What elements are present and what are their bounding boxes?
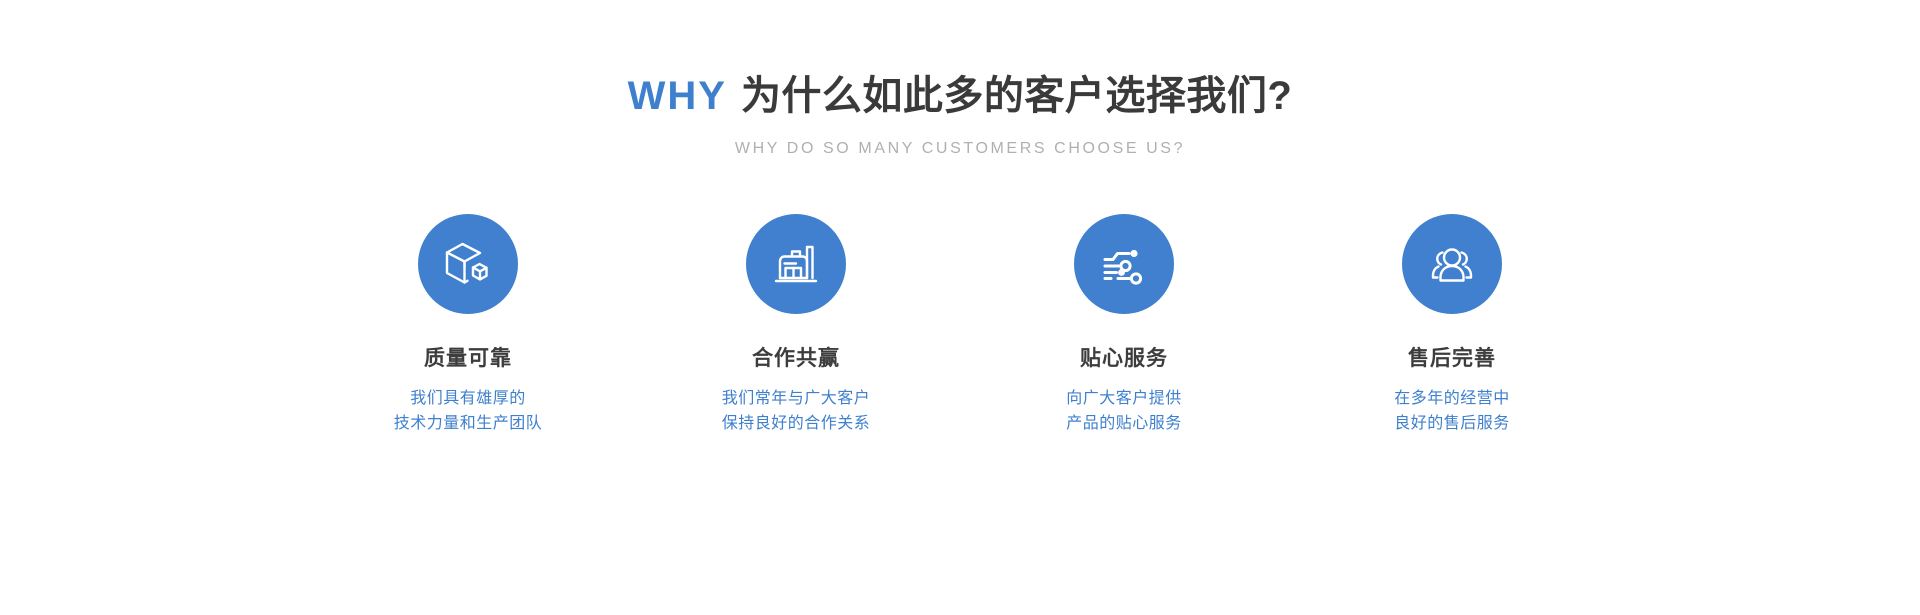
feature-card-service[interactable]: 贴心服务 向广大客户提供 产品的贴心服务 xyxy=(1024,214,1224,436)
feature-card-list: 质量可靠 我们具有雄厚的 技术力量和生产团队 xyxy=(368,214,1552,436)
icon-circle-service xyxy=(1074,214,1174,314)
package-box-icon xyxy=(440,236,496,292)
title-main-text: 为什么如此多的客户选择我们? xyxy=(741,74,1292,118)
icon-circle-aftersales xyxy=(1402,214,1502,314)
feature-title: 售后完善 xyxy=(1408,346,1496,371)
feature-description: 我们具有雄厚的 技术力量和生产团队 xyxy=(394,386,543,436)
feature-description-line1: 在多年的经营中 xyxy=(1394,386,1510,411)
feature-title: 合作共赢 xyxy=(752,346,840,371)
feature-description-line1: 我们具有雄厚的 xyxy=(394,386,543,411)
icon-circle-cooperation xyxy=(746,214,846,314)
feature-card-cooperation[interactable]: 合作共赢 我们常年与广大客户 保持良好的合作关系 xyxy=(696,214,896,436)
feature-title: 质量可靠 xyxy=(424,346,512,371)
title-highlight-why: WHY xyxy=(628,74,727,118)
feature-description-line1: 我们常年与广大客户 xyxy=(722,386,871,411)
factory-icon xyxy=(768,236,824,292)
why-choose-us-section: WHY为什么如此多的客户选择我们? WHY DO SO MANY CUSTOME… xyxy=(0,0,1920,615)
page-title: WHY为什么如此多的客户选择我们? xyxy=(0,74,1920,118)
feature-description: 我们常年与广大客户 保持良好的合作关系 xyxy=(722,386,871,436)
heading-block: WHY为什么如此多的客户选择我们? WHY DO SO MANY CUSTOME… xyxy=(0,74,1920,158)
feature-description-line1: 向广大客户提供 xyxy=(1066,386,1182,411)
page-subtitle: WHY DO SO MANY CUSTOMERS CHOOSE US? xyxy=(0,140,1920,158)
circuit-network-icon xyxy=(1096,236,1152,292)
feature-card-quality[interactable]: 质量可靠 我们具有雄厚的 技术力量和生产团队 xyxy=(368,214,568,436)
feature-title: 贴心服务 xyxy=(1080,346,1168,371)
icon-circle-quality xyxy=(418,214,518,314)
feature-description: 在多年的经营中 良好的售后服务 xyxy=(1394,386,1510,436)
feature-description: 向广大客户提供 产品的贴心服务 xyxy=(1066,386,1182,436)
feature-description-line2: 良好的售后服务 xyxy=(1394,411,1510,436)
feature-description-line2: 产品的贴心服务 xyxy=(1066,411,1182,436)
feature-description-line2: 保持良好的合作关系 xyxy=(722,411,871,436)
users-group-icon xyxy=(1424,236,1480,292)
feature-description-line2: 技术力量和生产团队 xyxy=(394,411,543,436)
feature-card-aftersales[interactable]: 售后完善 在多年的经营中 良好的售后服务 xyxy=(1352,214,1552,436)
